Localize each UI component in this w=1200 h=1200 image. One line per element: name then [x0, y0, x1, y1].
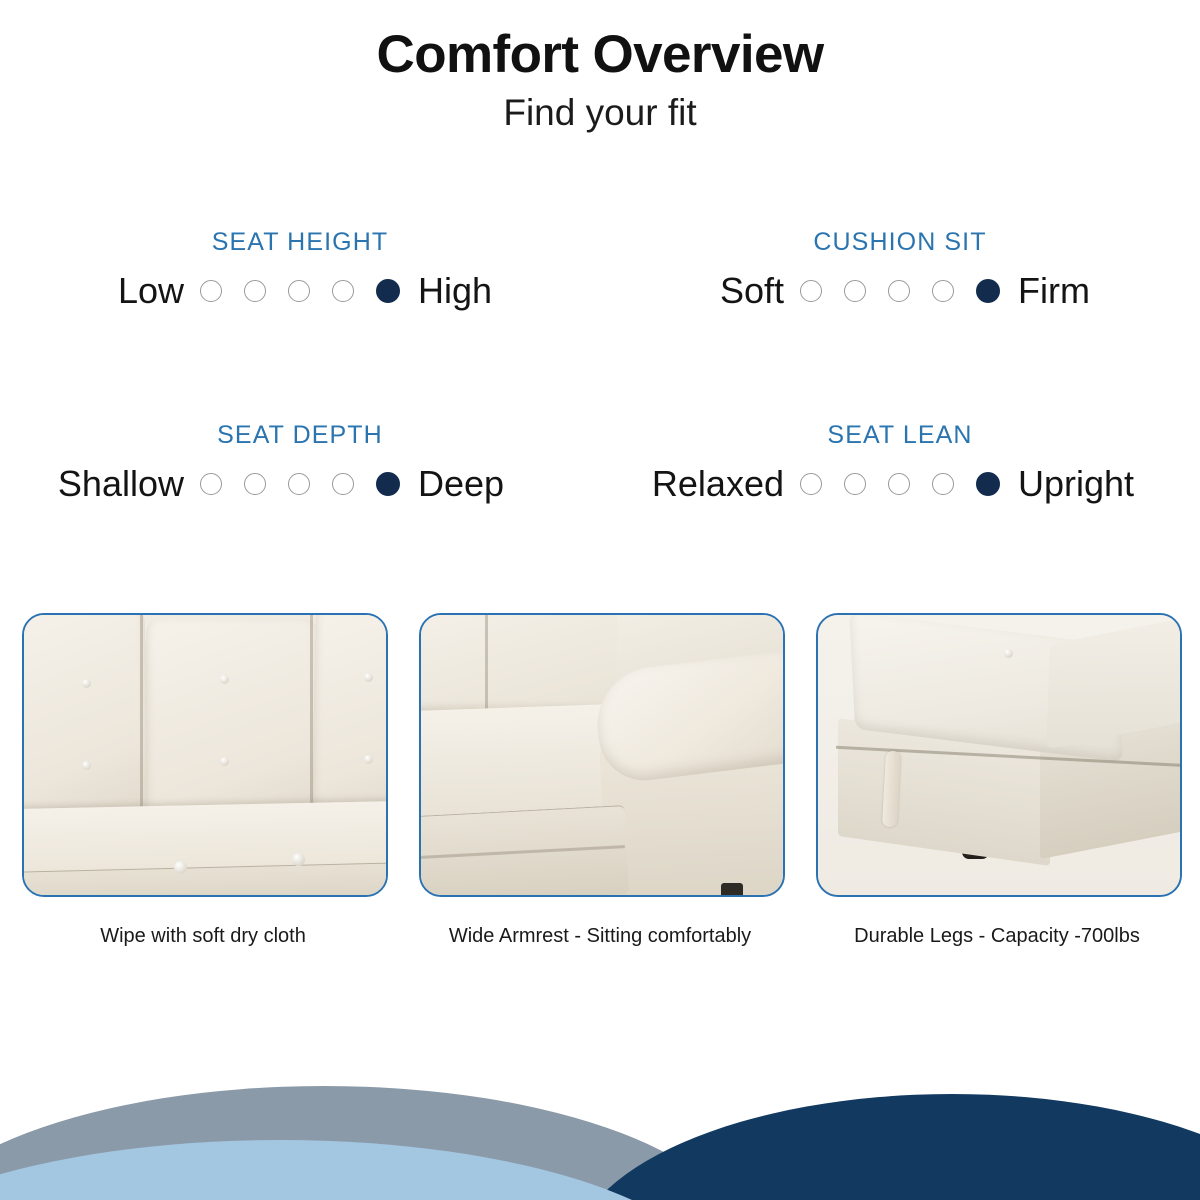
- scale-dot-4[interactable]: [332, 473, 354, 495]
- scale-dot-2[interactable]: [844, 280, 866, 302]
- dot-scale-seat-height[interactable]: [200, 279, 400, 303]
- feature-card-wipe-clean: Wipe with soft dry cloth: [22, 613, 384, 948]
- feature-cards: Wipe with soft dry cloth Wide Armrest - …: [22, 613, 1178, 948]
- scale-dot-5-selected[interactable]: [376, 472, 400, 496]
- scale-dot-1[interactable]: [200, 280, 222, 302]
- bottom-wave-decoration: [0, 1068, 1200, 1200]
- scale-dot-2[interactable]: [844, 473, 866, 495]
- scale-dot-2[interactable]: [244, 473, 266, 495]
- scale-dot-5-selected[interactable]: [376, 279, 400, 303]
- scale-dot-1[interactable]: [800, 280, 822, 302]
- scale-dot-3[interactable]: [288, 473, 310, 495]
- scale-dot-2[interactable]: [244, 280, 266, 302]
- scale-label-low: Low: [24, 273, 200, 309]
- scale-dot-5-selected[interactable]: [976, 472, 1000, 496]
- sofa-back-cushions-photo: [22, 613, 388, 897]
- page-subtitle: Find your fit: [0, 93, 1200, 134]
- sofa-armrest-photo: [419, 613, 785, 897]
- metric-cushion-sit: CUSHION SIT Soft Firm: [600, 228, 1200, 309]
- scale-dot-3[interactable]: [888, 280, 910, 302]
- scale-label-deep: Deep: [400, 466, 576, 502]
- metric-seat-depth: SEAT DEPTH Shallow Deep: [0, 421, 600, 502]
- feature-card-durable-legs: Durable Legs - Capacity -700lbs: [816, 613, 1178, 948]
- scale-label-upright: Upright: [1000, 466, 1176, 502]
- scale-label-soft: Soft: [624, 273, 800, 309]
- scale-label-shallow: Shallow: [24, 466, 200, 502]
- scale-cushion-sit: Soft Firm: [600, 273, 1200, 309]
- scale-dot-3[interactable]: [888, 473, 910, 495]
- metric-title-seat-lean: SEAT LEAN: [827, 421, 972, 450]
- scale-dot-1[interactable]: [800, 473, 822, 495]
- rating-row-1: SEAT HEIGHT Low High CUSHION SIT Soft: [0, 228, 1200, 309]
- feature-caption-wide-armrest: Wide Armrest - Sitting comfortably: [419, 924, 781, 948]
- dot-scale-seat-lean[interactable]: [800, 472, 1000, 496]
- scale-dot-4[interactable]: [932, 473, 954, 495]
- feature-caption-durable-legs: Durable Legs - Capacity -700lbs: [816, 924, 1178, 948]
- page-title: Comfort Overview: [0, 26, 1200, 83]
- storage-ottoman-legs-photo: [816, 613, 1182, 897]
- feature-card-wide-armrest: Wide Armrest - Sitting comfortably: [419, 613, 781, 948]
- scale-seat-height: Low High: [0, 273, 600, 309]
- scale-dot-5-selected[interactable]: [976, 279, 1000, 303]
- scale-seat-depth: Shallow Deep: [0, 466, 600, 502]
- scale-dot-3[interactable]: [288, 280, 310, 302]
- scale-dot-4[interactable]: [932, 280, 954, 302]
- comfort-rating-matrix: SEAT HEIGHT Low High CUSHION SIT Soft: [0, 228, 1200, 502]
- wave-shape-navy: [572, 1094, 1200, 1200]
- feature-caption-wipe-clean: Wipe with soft dry cloth: [22, 924, 384, 948]
- metric-title-seat-depth: SEAT DEPTH: [217, 421, 383, 450]
- scale-label-high: High: [400, 273, 576, 309]
- scale-dot-1[interactable]: [200, 473, 222, 495]
- scale-label-relaxed: Relaxed: [624, 466, 800, 502]
- scale-label-firm: Firm: [1000, 273, 1176, 309]
- metric-title-seat-height: SEAT HEIGHT: [212, 228, 388, 257]
- page-header: Comfort Overview Find your fit: [0, 26, 1200, 134]
- scale-dot-4[interactable]: [332, 280, 354, 302]
- metric-seat-lean: SEAT LEAN Relaxed Upright: [600, 421, 1200, 502]
- metric-title-cushion-sit: CUSHION SIT: [813, 228, 986, 257]
- dot-scale-seat-depth[interactable]: [200, 472, 400, 496]
- metric-seat-height: SEAT HEIGHT Low High: [0, 228, 600, 309]
- scale-seat-lean: Relaxed Upright: [600, 466, 1200, 502]
- rating-row-2: SEAT DEPTH Shallow Deep SEAT LEAN Relaxe…: [0, 421, 1200, 502]
- dot-scale-cushion-sit[interactable]: [800, 279, 1000, 303]
